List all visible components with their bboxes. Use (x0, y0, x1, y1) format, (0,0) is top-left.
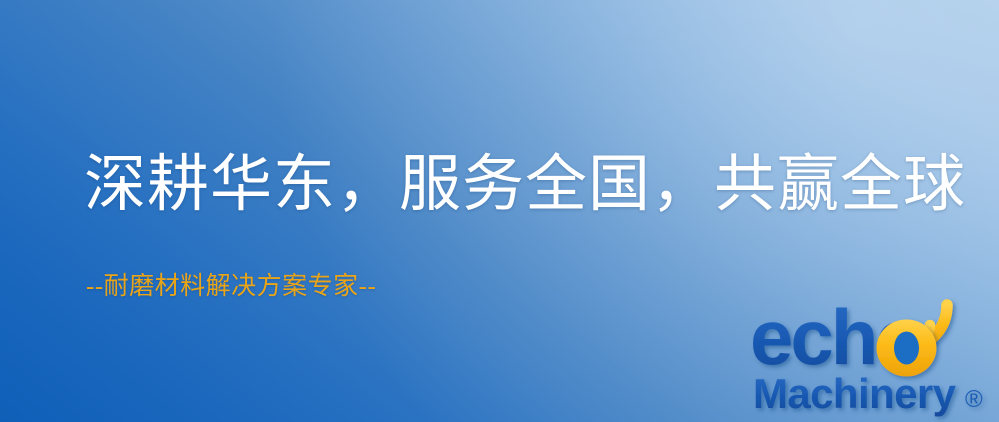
banner-headline: 深耕华东，服务全国，共赢全球 (84, 152, 966, 219)
promo-banner: 深耕华东，服务全国，共赢全球 --耐磨材料解决方案专家-- (0, 0, 999, 422)
registered-trademark-icon: ® (965, 386, 983, 413)
echo-machinery-logo[interactable]: echo Machinery ® (750, 292, 999, 422)
banner-subheadline: --耐磨材料解决方案专家-- (86, 266, 376, 302)
logo-letter-o (877, 320, 937, 377)
logo-artwork: echo Machinery ® (750, 292, 999, 422)
logo-tagline-machinery: Machinery (753, 370, 957, 417)
